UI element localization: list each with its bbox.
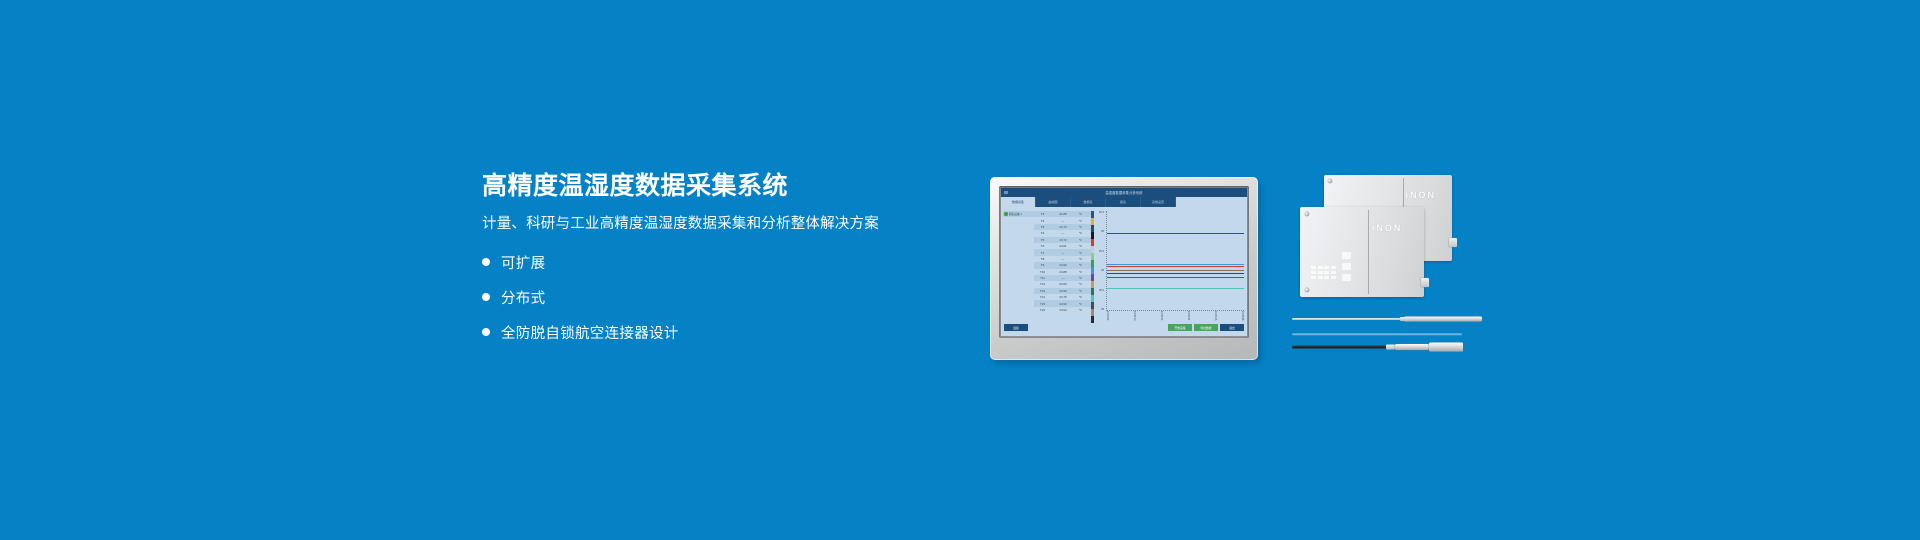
channel-unit-cell: ℃ bbox=[1075, 219, 1086, 223]
channel-value-cell: 24.72 bbox=[1051, 238, 1075, 242]
channel-unit-cell: ℃ bbox=[1075, 289, 1086, 293]
channel-unit-cell: ℃ bbox=[1075, 263, 1086, 267]
channel-name-cell: T2 bbox=[1034, 219, 1051, 223]
x-axis-tick-label: 10:25:58 bbox=[1241, 311, 1244, 321]
channel-value-cell: --- bbox=[1051, 251, 1075, 255]
front-enclosure: iNON bbox=[1300, 207, 1424, 297]
probe-stem bbox=[1292, 318, 1410, 320]
x-axis-tick-label: 10:25:46 bbox=[1214, 311, 1217, 321]
channel-name-cell: T3 bbox=[1034, 225, 1051, 229]
copy-block: 高精度温湿度数据采集系统 计量、科研与工业高精度温湿度数据采集和分析整体解决方案… bbox=[482, 172, 952, 357]
tab-bar-filler bbox=[1176, 197, 1247, 207]
channel-value-cell: 24.90 bbox=[1051, 282, 1075, 286]
chart-series-line bbox=[1107, 273, 1244, 274]
probe-divider-line bbox=[1292, 329, 1497, 339]
x-axis-tick-label: 10:25:34 bbox=[1187, 311, 1190, 321]
menu-icon[interactable] bbox=[1004, 191, 1008, 194]
tab-settings[interactable]: 系统设置 bbox=[1141, 197, 1176, 207]
sensor-probe-images bbox=[1292, 312, 1497, 360]
page-title: 高精度温湿度数据采集系统 bbox=[482, 172, 952, 201]
chart-x-axis: 10:24:5210:25:1010:25:2210:25:3410:25:46… bbox=[1106, 311, 1244, 321]
chart-series-line bbox=[1107, 288, 1244, 289]
feature-label: 全防脱自锁航空连接器设计 bbox=[501, 322, 679, 343]
bullet-dot-icon bbox=[482, 293, 490, 301]
probe-tube bbox=[1404, 317, 1482, 322]
list-item: 分布式 bbox=[482, 287, 952, 308]
application-screen: 温湿度数据采集分析系统 数据采集 曲线图 数据表 报表 系统设置 采集设备 1 bbox=[1001, 188, 1247, 336]
monitor-screen-frame: 温湿度数据采集分析系统 数据采集 曲线图 数据表 报表 系统设置 采集设备 1 bbox=[999, 186, 1249, 338]
y-axis-tick-label: 25.2 bbox=[1099, 289, 1105, 292]
export-data-button[interactable]: 导出数据 bbox=[1194, 324, 1218, 331]
screw-icon bbox=[1305, 212, 1309, 216]
channel-value-cell: --- bbox=[1051, 276, 1075, 280]
chart-series-line bbox=[1107, 266, 1244, 267]
chart-series-line bbox=[1107, 270, 1244, 271]
probe-connector-barrel bbox=[1395, 344, 1429, 350]
tab-data-acquisition[interactable]: 数据采集 bbox=[1001, 197, 1036, 207]
app-tab-bar: 数据采集 曲线图 数据表 报表 系统设置 bbox=[1001, 197, 1247, 207]
device-online-icon bbox=[1004, 212, 1008, 216]
channel-unit-cell: ℃ bbox=[1075, 308, 1086, 312]
channel-unit-cell: ℃ bbox=[1075, 257, 1086, 261]
chart-series-line bbox=[1107, 264, 1244, 265]
y-axis-tick-label: 25.4 bbox=[1099, 211, 1105, 214]
feature-label: 分布式 bbox=[501, 287, 545, 308]
channel-unit-cell: ℃ bbox=[1075, 225, 1086, 229]
table-row[interactable]: T1624.94℃ bbox=[1034, 307, 1091, 313]
channel-unit-cell: ℃ bbox=[1075, 231, 1086, 235]
x-axis-tick-label: 10:24:52 bbox=[1106, 311, 1109, 321]
app-footer-bar: 连接 开始采集 导出数据 退出 bbox=[1001, 323, 1247, 332]
list-item: 可扩展 bbox=[482, 252, 952, 273]
y-axis-tick-label: 25.3 bbox=[1099, 250, 1105, 253]
tab-data-table[interactable]: 数据表 bbox=[1071, 197, 1106, 207]
connector-port bbox=[1449, 238, 1457, 247]
channel-value-cell: 24.74 bbox=[1051, 225, 1075, 229]
terminal-grid-graphic bbox=[1311, 266, 1336, 280]
connector-port bbox=[1421, 278, 1429, 287]
channel-unit-cell: ℃ bbox=[1075, 270, 1086, 274]
channel-name-cell: T6 bbox=[1034, 244, 1051, 248]
x-axis-tick-label: 10:25:22 bbox=[1160, 311, 1163, 321]
chart-series-line bbox=[1107, 277, 1244, 278]
channel-unit-cell: ℃ bbox=[1075, 238, 1086, 242]
tab-report[interactable]: 报表 bbox=[1106, 197, 1141, 207]
thin-cable bbox=[1292, 333, 1462, 335]
channel-name-cell: T12 bbox=[1034, 282, 1051, 286]
x-axis-tick-label: 10:25:10 bbox=[1133, 311, 1136, 321]
port-label-graphic bbox=[1342, 252, 1351, 281]
channel-name-cell: T9 bbox=[1034, 263, 1051, 267]
app-titlebar: 温湿度数据采集分析系统 bbox=[1001, 188, 1247, 197]
brand-label-back: iNON bbox=[1406, 190, 1437, 200]
brand-label-front: iNON bbox=[1372, 223, 1403, 233]
feature-label: 可扩展 bbox=[501, 252, 545, 273]
y-axis-tick-label: 25 bbox=[1101, 308, 1105, 311]
monitor-indicator-led bbox=[1121, 348, 1127, 354]
enclosure-product-image: iNON iNON bbox=[1300, 175, 1470, 297]
channel-value-cell: 21.85 bbox=[1051, 212, 1075, 216]
screw-icon bbox=[1305, 288, 1309, 292]
stainless-probe bbox=[1292, 314, 1497, 324]
enclosure-seam bbox=[1368, 210, 1369, 295]
channel-name-cell: T4 bbox=[1034, 231, 1051, 235]
start-acquisition-button[interactable]: 开始采集 bbox=[1168, 324, 1192, 331]
connect-button[interactable]: 连接 bbox=[1004, 324, 1028, 331]
channel-name-cell: T5 bbox=[1034, 238, 1051, 242]
channel-readings-table: T121.85℃T2---℃T324.74℃T4---℃T524.72℃T624… bbox=[1034, 207, 1091, 323]
channel-unit-cell: ℃ bbox=[1075, 282, 1086, 286]
tree-node-device[interactable]: 采集设备 1 bbox=[1003, 211, 1034, 217]
channel-value-cell: --- bbox=[1051, 231, 1075, 235]
feature-list: 可扩展 分布式 全防脱自锁航空连接器设计 bbox=[482, 252, 952, 343]
channel-name-cell: T10 bbox=[1034, 270, 1051, 274]
channel-name-cell: T13 bbox=[1034, 289, 1051, 293]
channel-value-cell: 24.90 bbox=[1051, 289, 1075, 293]
channel-unit-cell: ℃ bbox=[1075, 251, 1086, 255]
channel-value-cell: 24.75 bbox=[1051, 295, 1075, 299]
screw-icon bbox=[1328, 179, 1332, 183]
channel-name-cell: T14 bbox=[1034, 295, 1051, 299]
app-title: 温湿度数据采集分析系统 bbox=[1105, 190, 1142, 195]
product-banner: 高精度温湿度数据采集系统 计量、科研与工业高精度温湿度数据采集和分析整体解决方案… bbox=[0, 0, 1920, 540]
channel-value-cell: 24.61 bbox=[1051, 244, 1075, 248]
probe-sensor-head bbox=[1429, 343, 1463, 352]
y-axis-tick-label: 25 bbox=[1101, 269, 1105, 272]
page-subtitle: 计量、科研与工业高精度温湿度数据采集和分析整体解决方案 bbox=[482, 215, 952, 234]
channel-value-cell: 24.90 bbox=[1051, 302, 1075, 306]
channel-unit-cell: ℃ bbox=[1075, 212, 1086, 216]
channel-unit-cell: ℃ bbox=[1075, 244, 1086, 248]
channel-value-cell: --- bbox=[1051, 257, 1075, 261]
channel-value-cell: --- bbox=[1051, 219, 1075, 223]
probe-strain-relief bbox=[1386, 345, 1395, 350]
y-axis-tick-label: 25 bbox=[1101, 230, 1105, 233]
realtime-chart: 25.42525.32525.225 10:24:5210:25:1010:25… bbox=[1094, 207, 1247, 323]
cable-probe bbox=[1292, 342, 1497, 352]
chart-y-axis: 25.42525.32525.225 bbox=[1094, 211, 1105, 311]
channel-name-cell: T8 bbox=[1034, 257, 1051, 261]
chart-series-line bbox=[1107, 233, 1244, 234]
probe-cable-black bbox=[1292, 346, 1390, 349]
channel-value-cell: 24.88 bbox=[1051, 270, 1075, 274]
probe-ferrule bbox=[1400, 317, 1410, 321]
app-body: 采集设备 1 T121.85℃T2---℃T324.74℃T4---℃T524.… bbox=[1001, 207, 1247, 323]
channel-name-cell: T7 bbox=[1034, 251, 1051, 255]
channel-value-cell: 24.90 bbox=[1051, 263, 1075, 267]
monitor-product-image: 温湿度数据采集分析系统 数据采集 曲线图 数据表 报表 系统设置 采集设备 1 bbox=[990, 177, 1258, 360]
channel-unit-cell: ℃ bbox=[1075, 276, 1086, 280]
device-tree-pane: 采集设备 1 bbox=[1001, 207, 1034, 323]
bullet-dot-icon bbox=[482, 328, 490, 336]
channel-name-cell: T16 bbox=[1034, 308, 1051, 312]
channel-name-cell: T15 bbox=[1034, 302, 1051, 306]
channel-name-cell: T11 bbox=[1034, 276, 1051, 280]
chart-plot-area bbox=[1106, 211, 1244, 311]
channel-name-cell: T1 bbox=[1034, 212, 1051, 216]
bullet-dot-icon bbox=[482, 258, 490, 266]
exit-button[interactable]: 退出 bbox=[1220, 324, 1244, 331]
tab-curve-chart[interactable]: 曲线图 bbox=[1036, 197, 1071, 207]
list-item: 全防脱自锁航空连接器设计 bbox=[482, 322, 952, 343]
channel-unit-cell: ℃ bbox=[1075, 302, 1086, 306]
channel-unit-cell: ℃ bbox=[1075, 295, 1086, 299]
tree-node-label: 采集设备 1 bbox=[1009, 212, 1023, 216]
channel-value-cell: 24.94 bbox=[1051, 308, 1075, 312]
